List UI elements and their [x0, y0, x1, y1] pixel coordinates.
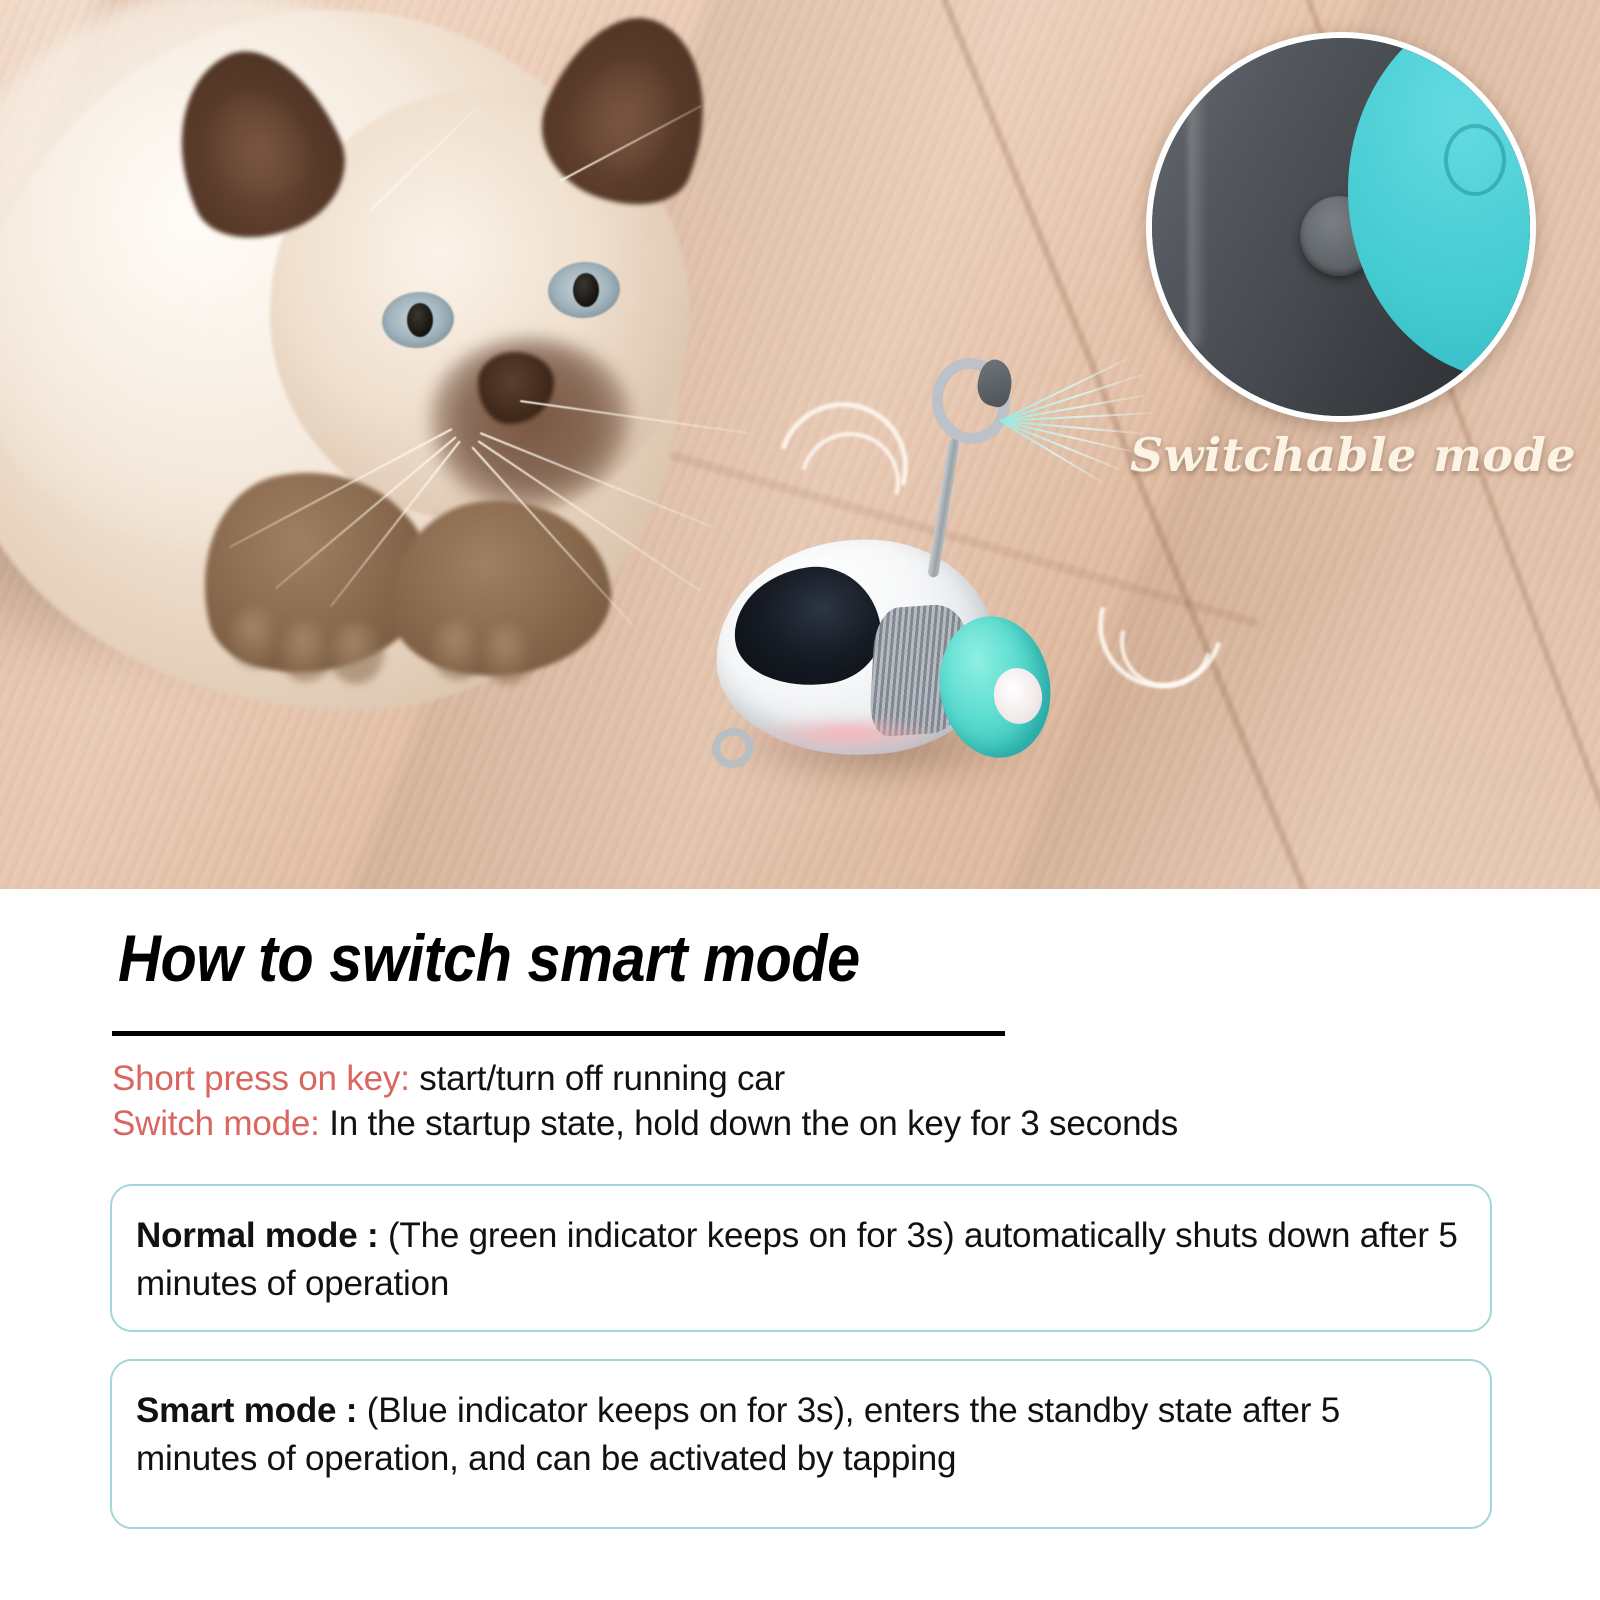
product-photo-panel: Switchable mode [0, 0, 1600, 889]
instruction-label: Short press on key: [112, 1059, 410, 1098]
mode-card-title: Smart mode : [136, 1391, 357, 1430]
mode-card-text: Normal mode : (The green indicator keeps… [136, 1212, 1466, 1307]
inset-device-edge-highlight [1188, 96, 1206, 346]
kitten-toe [228, 606, 284, 668]
toy-feather-rod [927, 438, 960, 578]
instruction-value: In the startup state, hold down the on k… [329, 1104, 1178, 1143]
title-underline-rule [112, 1031, 1005, 1036]
kitten-pupil-right [573, 273, 599, 307]
instruction-line-switch-mode: Switch mode: In the startup state, hold … [112, 1104, 1178, 1144]
switchable-mode-caption: Switchable mode [1130, 428, 1560, 482]
mode-card-title: Normal mode : [136, 1216, 378, 1255]
toy-underglow [752, 720, 942, 754]
mode-card-normal: Normal mode : (The green indicator keeps… [110, 1184, 1492, 1332]
kitten-pupil-left [407, 303, 433, 337]
inset-teal-wheel-notch [1444, 124, 1506, 196]
mode-card-smart: Smart mode : (Blue indicator keeps on fo… [110, 1359, 1492, 1529]
kitten-toe [480, 622, 536, 684]
kitten-toe [278, 620, 334, 682]
instruction-line-short-press: Short press on key: start/turn off runni… [112, 1059, 785, 1099]
toy-feather [1000, 370, 1150, 480]
robot-cat-toy-car [700, 330, 1130, 800]
mode-card-text: Smart mode : (Blue indicator keeps on fo… [136, 1387, 1466, 1482]
kitten-toe [328, 622, 384, 684]
power-button-closeup-inset [1146, 32, 1536, 422]
instructions-panel: How to switch smart mode Short press on … [0, 889, 1600, 1600]
instruction-value: start/turn off running car [419, 1059, 785, 1098]
instruction-label: Switch mode: [112, 1104, 320, 1143]
kitten-toe [430, 618, 486, 680]
page-title: How to switch smart mode [118, 920, 860, 996]
